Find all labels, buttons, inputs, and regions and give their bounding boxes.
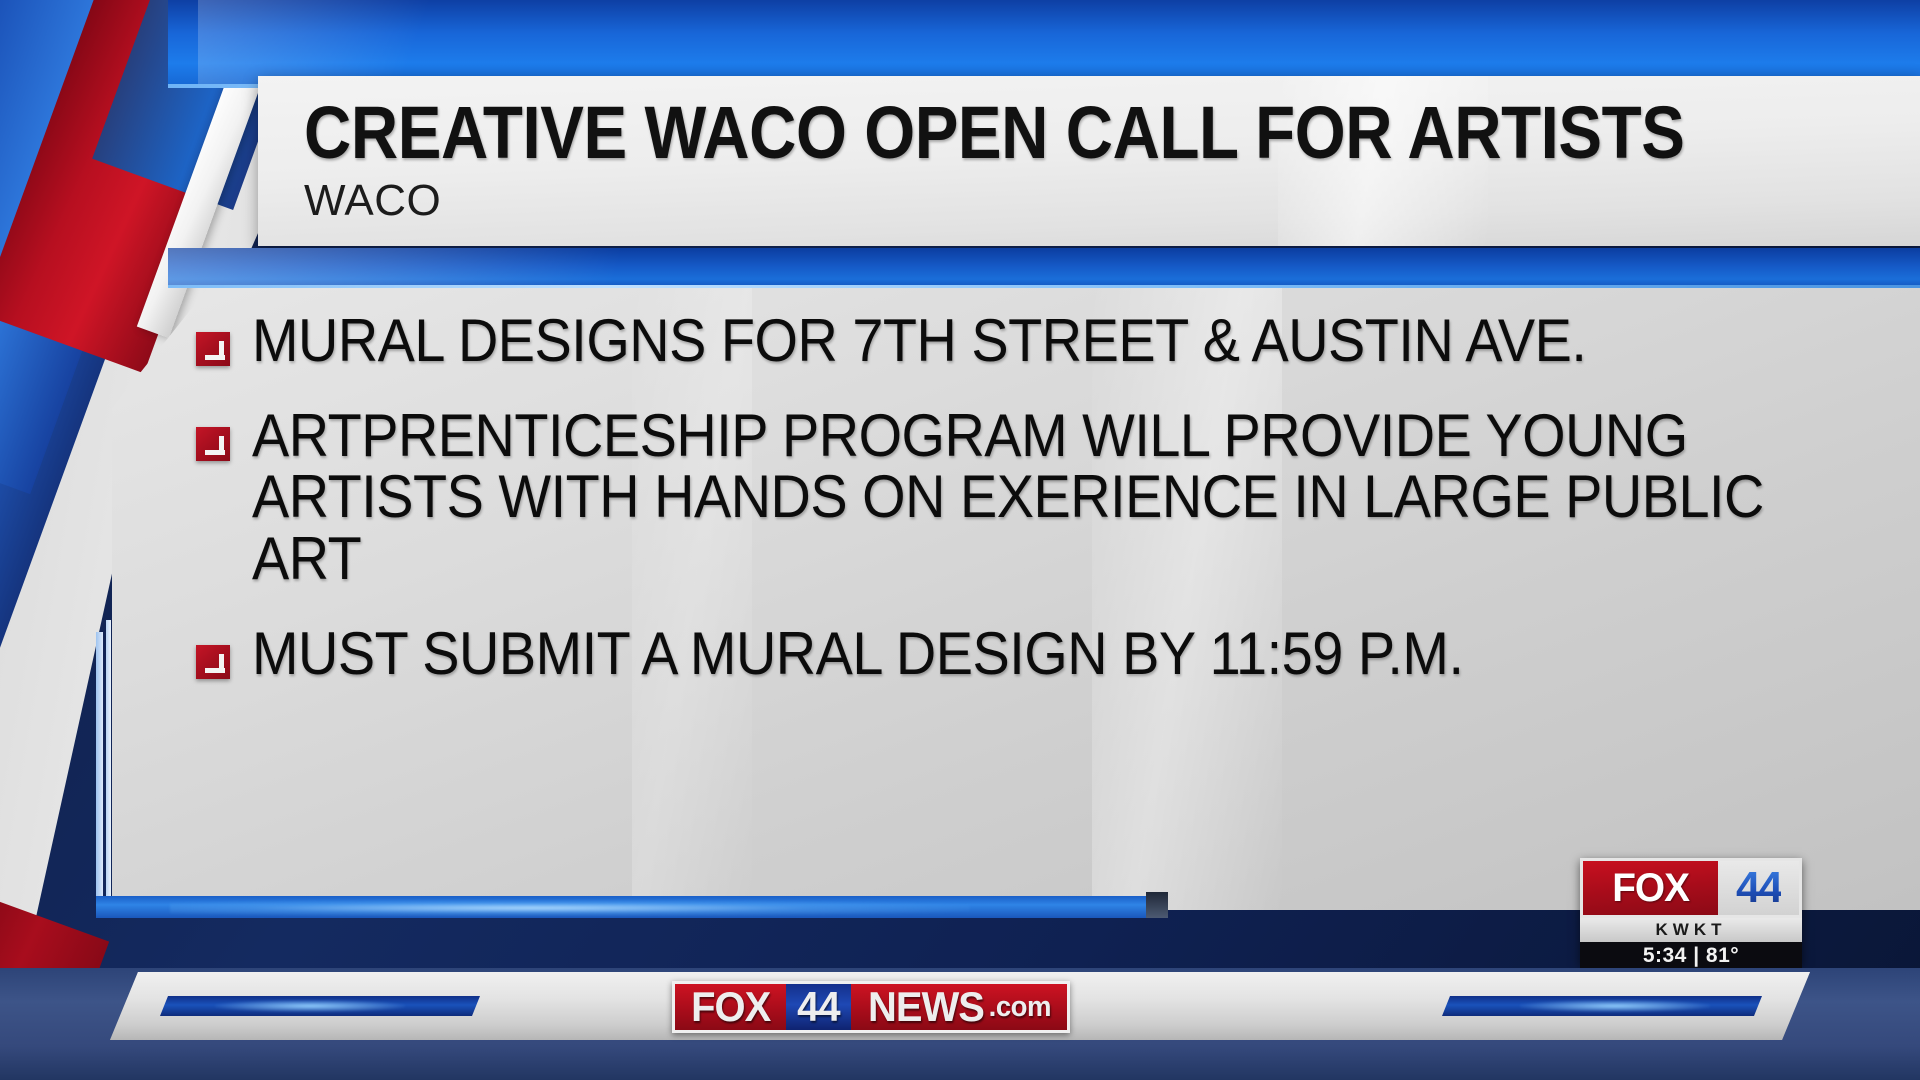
mid-blue-divider <box>168 248 1920 288</box>
bullet-text: ARTPRENTICESHIP PROGRAM WILL PROVIDE YOU… <box>252 405 1781 589</box>
bullet-square-icon <box>196 332 230 366</box>
list-item: MUST SUBMIT A MURAL DESIGN BY 11:59 P.M. <box>196 623 1896 684</box>
bullet-square-icon <box>196 645 230 679</box>
station-bug-network-label: FOX <box>1612 866 1689 911</box>
station-bug-time-row: 5:34 | 81° <box>1580 942 1802 970</box>
location-subtitle: WACO <box>304 176 441 226</box>
bullet-text: MUST SUBMIT A MURAL DESIGN BY 11:59 P.M. <box>252 623 1463 684</box>
station-bug-fox-block: FOX <box>1580 858 1718 918</box>
panel-accent-nub <box>1146 892 1168 918</box>
station-bug: FOX 44 KWKT 5:34 | 81° <box>1580 858 1802 964</box>
news-logo-44-segment: 44 <box>786 981 851 1033</box>
time-temperature-readout: 5:34 | 81° <box>1643 944 1739 968</box>
station-bug-callsign-label: KWKT <box>1656 920 1727 940</box>
panel-rail-outer <box>96 632 103 914</box>
top-band-gloss <box>198 0 478 88</box>
broadcast-graphic: CREATIVE WACO OPEN CALL FOR ARTISTS WACO… <box>0 0 1920 1080</box>
list-item: MURAL DESIGNS FOR 7TH STREET & AUSTIN AV… <box>196 310 1896 371</box>
news-logo-dotcom-label: .com <box>989 991 1051 1024</box>
header-panel: CREATIVE WACO OPEN CALL FOR ARTISTS WACO <box>258 76 1920 246</box>
news-logo-44-label: 44 <box>797 983 839 1031</box>
bullet-square-icon <box>196 427 230 461</box>
news-logo-fox-segment: FOX <box>672 981 786 1033</box>
panel-accent-glow <box>170 900 970 916</box>
station-bug-callsign-row: KWKT <box>1580 918 1802 942</box>
station-bug-channel-label: 44 <box>1736 863 1781 913</box>
bottom-bar-dash-glow-left <box>215 1000 405 1012</box>
news-logo-news-label: NEWS <box>868 983 984 1031</box>
page-title: CREATIVE WACO OPEN CALL FOR ARTISTS <box>304 90 1684 175</box>
mid-band-gloss <box>168 248 728 288</box>
top-blue-band <box>168 0 1920 88</box>
list-item: ARTPRENTICESHIP PROGRAM WILL PROVIDE YOU… <box>196 405 1896 589</box>
bottom-bar-dash-glow-right <box>1520 1000 1710 1012</box>
station-bug-channel-block: 44 <box>1718 858 1802 918</box>
news-logo-news-segment: NEWS .com <box>851 981 1070 1033</box>
bullet-text: MURAL DESIGNS FOR 7TH STREET & AUSTIN AV… <box>252 310 1586 371</box>
bullet-list: MURAL DESIGNS FOR 7TH STREET & AUSTIN AV… <box>196 310 1896 718</box>
news-logo-fox-label: FOX <box>691 983 770 1031</box>
news-website-logo: FOX 44 NEWS .com <box>672 981 1070 1033</box>
station-bug-logo-row: FOX 44 <box>1580 858 1802 918</box>
panel-rail-inner <box>106 620 111 912</box>
